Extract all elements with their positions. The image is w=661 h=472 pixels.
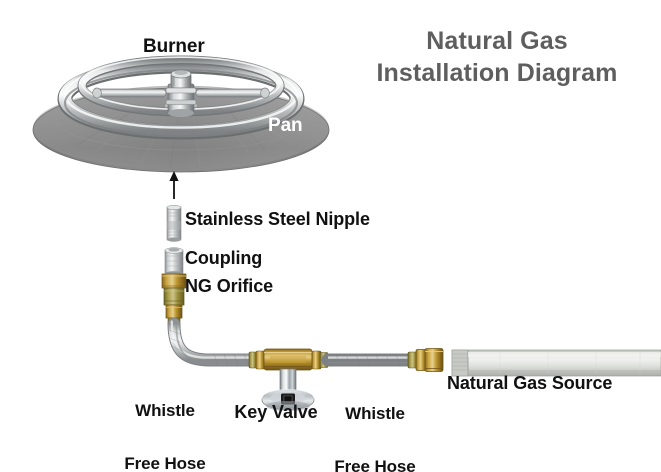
label-whistle-free-hose-left-line-2: Free Hose [101,455,229,472]
page-title-line-2: Installation Diagram [347,58,647,90]
label-key-valve: Key Valve [215,403,337,422]
page-title-line-1: Natural Gas [347,26,647,58]
stainless-nipple-icon [167,205,181,241]
label-burner: Burner [143,37,205,57]
braided-hose-icon [328,349,443,372]
braided-hose-icon [169,322,265,369]
label-ng-orifice: NG Orifice [185,277,273,296]
label-natural-gas-source: Natural Gas Source [447,374,612,393]
label-whistle-free-hose-right-line-2: Free Hose [311,458,439,472]
ng-orifice-icon [162,274,186,324]
up-arrow-icon [169,171,178,199]
label-whistle-free-hose-left: Whistle Free Hose [101,367,229,472]
label-stainless-steel-nipple: Stainless Steel Nipple [185,210,370,229]
label-coupling: Coupling [185,249,262,268]
coupling-icon [165,248,183,276]
diagram-canvas: Natural Gas Installation Diagram Burner … [0,0,661,472]
page-title: Natural Gas Installation Diagram [347,26,647,89]
label-whistle-free-hose-left-line-1: Whistle [101,402,229,420]
label-pan: Pan [268,116,303,136]
burner-hub-icon [166,70,196,117]
